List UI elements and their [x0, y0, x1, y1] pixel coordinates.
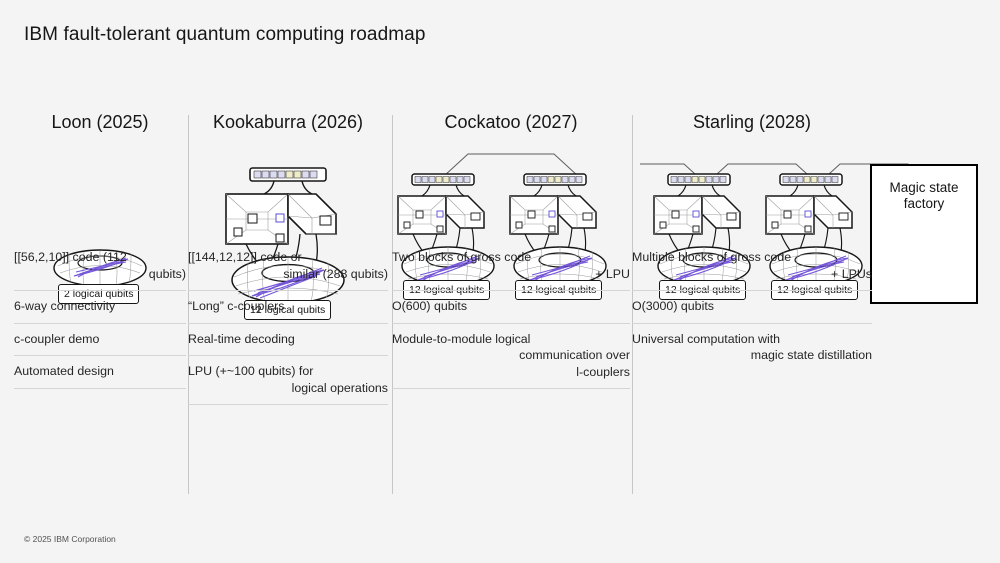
msf-line-2: factory	[872, 196, 976, 212]
bullet-line: Multiple blocks of gross code	[632, 250, 791, 264]
bullet-line: [[144,12,12]] code or	[188, 250, 302, 264]
bullet-line-cont: similar (288 qubits)	[188, 266, 388, 283]
bullet-line-cont: qubits)	[14, 266, 186, 283]
bullet-line: Automated design	[14, 364, 114, 378]
column-header-loon: Loon (2025)	[14, 112, 186, 133]
bullet-line: [[56,2,10]] code (112	[14, 250, 127, 264]
msf-line-1: Magic state	[872, 180, 976, 196]
roadmap-column-kookaburra: Kookaburra (2026)	[188, 112, 388, 494]
bullet-line-cont: logical operations	[188, 380, 388, 397]
module-box-left	[226, 194, 288, 244]
bullet-list-starling: Multiple blocks of gross code + LPUs O(3…	[632, 242, 872, 372]
bullet-item: Automated design	[14, 356, 186, 389]
bullet-item: Universal computation with magic state d…	[632, 324, 872, 372]
bullet-line-cont: + LPU	[392, 266, 630, 283]
bullet-line: c-coupler demo	[14, 332, 99, 346]
bullet-line: “Long” c-couplers	[188, 299, 284, 313]
bullet-item: LPU (+~100 qubits) for logical operation…	[188, 356, 388, 405]
bullet-item: “Long” c-couplers	[188, 291, 388, 324]
module-box-right	[288, 194, 336, 234]
roadmap-column-cockatoo: Cockatoo (2027)	[392, 112, 630, 494]
bullet-item: Two blocks of gross code + LPU	[392, 242, 630, 291]
bullet-line-cont2: l-couplers	[392, 364, 630, 381]
bullet-line-cont: + LPUs	[632, 266, 872, 283]
lpu-chip-icon	[250, 168, 326, 194]
magic-state-factory-title: Magic state factory	[872, 166, 976, 212]
bullet-line: LPU (+~100 qubits) for	[188, 364, 313, 378]
copyright-footer: © 2025 IBM Corporation	[24, 534, 116, 544]
bullet-item: Real-time decoding	[188, 324, 388, 357]
bullet-line: 6-way connectivity	[14, 299, 115, 313]
bullet-line: Real-time decoding	[188, 332, 295, 346]
bullet-line: Module-to-module logical	[392, 332, 530, 346]
bullet-line: O(600) qubits	[392, 299, 467, 313]
bullet-list-loon: [[56,2,10]] code (112 qubits) 6-way conn…	[14, 242, 186, 389]
roadmap-column-loon: Loon (2025)	[14, 112, 186, 494]
bullet-item: [[56,2,10]] code (112 qubits)	[14, 242, 186, 291]
l-coupler-bridge	[444, 154, 578, 176]
bullet-list-kookaburra: [[144,12,12]] code or similar (288 qubit…	[188, 242, 388, 405]
bullet-item: O(3000) qubits	[632, 291, 872, 324]
bullet-item: Multiple blocks of gross code + LPUs	[632, 242, 872, 291]
roadmap-columns: Loon (2025)	[0, 0, 1000, 563]
bullet-item: 6-way connectivity	[14, 291, 186, 324]
bullet-line-cont: communication over	[392, 347, 630, 364]
bullet-line: Universal computation with	[632, 332, 780, 346]
column-header-cockatoo: Cockatoo (2027)	[392, 112, 630, 133]
bullet-item: Module-to-module logical communication o…	[392, 324, 630, 390]
column-header-starling: Starling (2028)	[632, 112, 872, 133]
bullet-line-cont: magic state distillation	[632, 347, 872, 364]
magic-state-factory-box: Magic state factory	[870, 164, 978, 304]
column-header-kookaburra: Kookaburra (2026)	[188, 112, 388, 133]
bullet-item: c-coupler demo	[14, 324, 186, 357]
bullet-item: O(600) qubits	[392, 291, 630, 324]
bullet-line: O(3000) qubits	[632, 299, 714, 313]
roadmap-column-starling: Starling (2028)	[632, 112, 986, 494]
bullet-line: Two blocks of gross code	[392, 250, 531, 264]
bullet-list-cockatoo: Two blocks of gross code + LPU O(600) qu…	[392, 242, 630, 389]
bullet-item: [[144,12,12]] code or similar (288 qubit…	[188, 242, 388, 291]
